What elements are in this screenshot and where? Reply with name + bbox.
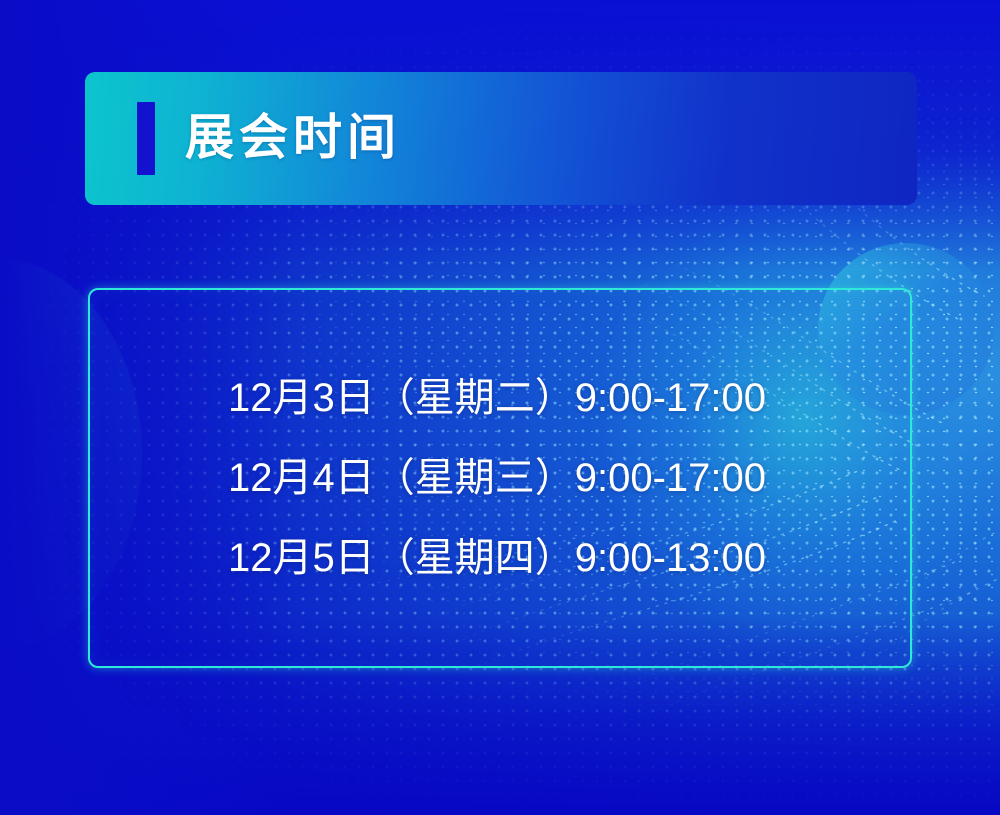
schedule-panel: 12月3日（星期二）9:00-17:00 12月4日（星期三）9:00-17:0… [88, 288, 912, 668]
poster-canvas: 展会时间 12月3日（星期二）9:00-17:00 12月4日（星期三）9:00… [0, 0, 1000, 815]
schedule-line: 12月5日（星期四）9:00-13:00 [228, 538, 910, 578]
schedule-line: 12月4日（星期三）9:00-17:00 [228, 458, 910, 498]
section-header-banner: 展会时间 [85, 72, 917, 205]
vertical-accent-bar [137, 102, 155, 175]
schedule-line: 12月3日（星期二）9:00-17:00 [228, 378, 910, 418]
page-title: 展会时间 [185, 114, 401, 163]
